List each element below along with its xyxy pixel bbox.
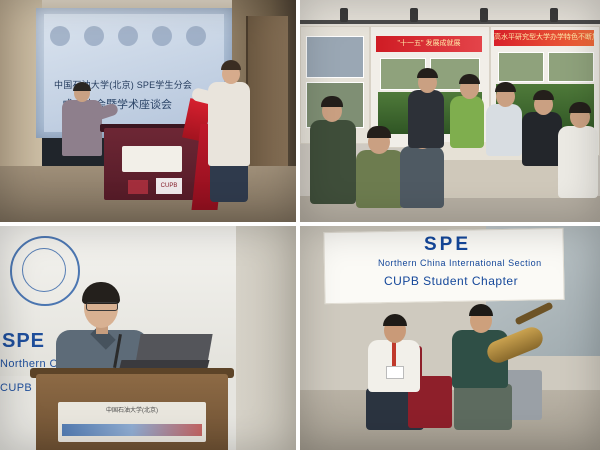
- banner-line-3: CUPB Student Chapter: [384, 274, 518, 288]
- board-banner-right: 高水平研究型大学办学特色不断加强: [494, 30, 594, 46]
- person-body: [408, 90, 444, 148]
- photo-panel-top-left: 中国石油大学(北京) SPE学生分会 成立大会暨学术座谈会 CUPB: [0, 0, 296, 222]
- lectern-emblem: [128, 180, 148, 194]
- person-body: [356, 150, 404, 208]
- person-body: [522, 112, 562, 166]
- board-photo: [306, 36, 364, 78]
- person-body: [400, 146, 444, 208]
- person-body: [486, 104, 522, 156]
- slide-logos: [50, 24, 220, 50]
- lectern-plate-text: 中国石油大学(北京): [58, 402, 206, 414]
- photo-panel-bottom-right: SPE Northern China International Section…: [300, 226, 600, 450]
- lectern-logo-cupb: CUPB: [156, 178, 182, 194]
- track-light: [340, 8, 348, 22]
- photo-panel-top-right: "十一五" 发展成就展 高水平研究型大学办学特色不断加强: [300, 0, 600, 222]
- banner-line-2: Northern China International Section: [378, 258, 542, 268]
- banner-line-1: SPE: [424, 234, 471, 256]
- board-photo: [548, 52, 594, 82]
- person-body: [310, 120, 356, 204]
- lanyard: [392, 342, 396, 368]
- person-body: [558, 126, 598, 198]
- glasses-icon: [86, 302, 118, 311]
- photo-panel-bottom-left: SPE Northern China International Section…: [0, 226, 296, 450]
- photo-collage: 中国石油大学(北京) SPE学生分会 成立大会暨学术座谈会 CUPB: [0, 0, 600, 450]
- name-badge: [386, 366, 404, 379]
- board-banner-center: "十一五" 发展成就展: [376, 36, 482, 52]
- university-seal-inner: [22, 248, 66, 292]
- person-body: [450, 96, 484, 148]
- lectern-logo-text: CUPB: [156, 178, 182, 194]
- banner-line-1: SPE: [2, 330, 45, 353]
- track-light: [410, 8, 418, 22]
- board-banner-center-text: "十一五" 发展成就展: [376, 36, 482, 52]
- performer-right-legs: [454, 384, 512, 430]
- board-photo: [498, 52, 544, 82]
- lectern-plate: 中国石油大学(北京): [58, 402, 206, 442]
- board-banner-right-text: 高水平研究型大学办学特色不断加强: [494, 30, 594, 46]
- track-light: [480, 8, 488, 22]
- person-hair: [321, 96, 343, 107]
- right-wall: [236, 226, 296, 450]
- door: [246, 16, 288, 166]
- lectern-plate: [122, 146, 182, 172]
- track-light: [550, 8, 558, 22]
- lectern-decor-strip: [62, 424, 202, 436]
- person-hair: [569, 102, 591, 113]
- person-hair: [367, 126, 391, 138]
